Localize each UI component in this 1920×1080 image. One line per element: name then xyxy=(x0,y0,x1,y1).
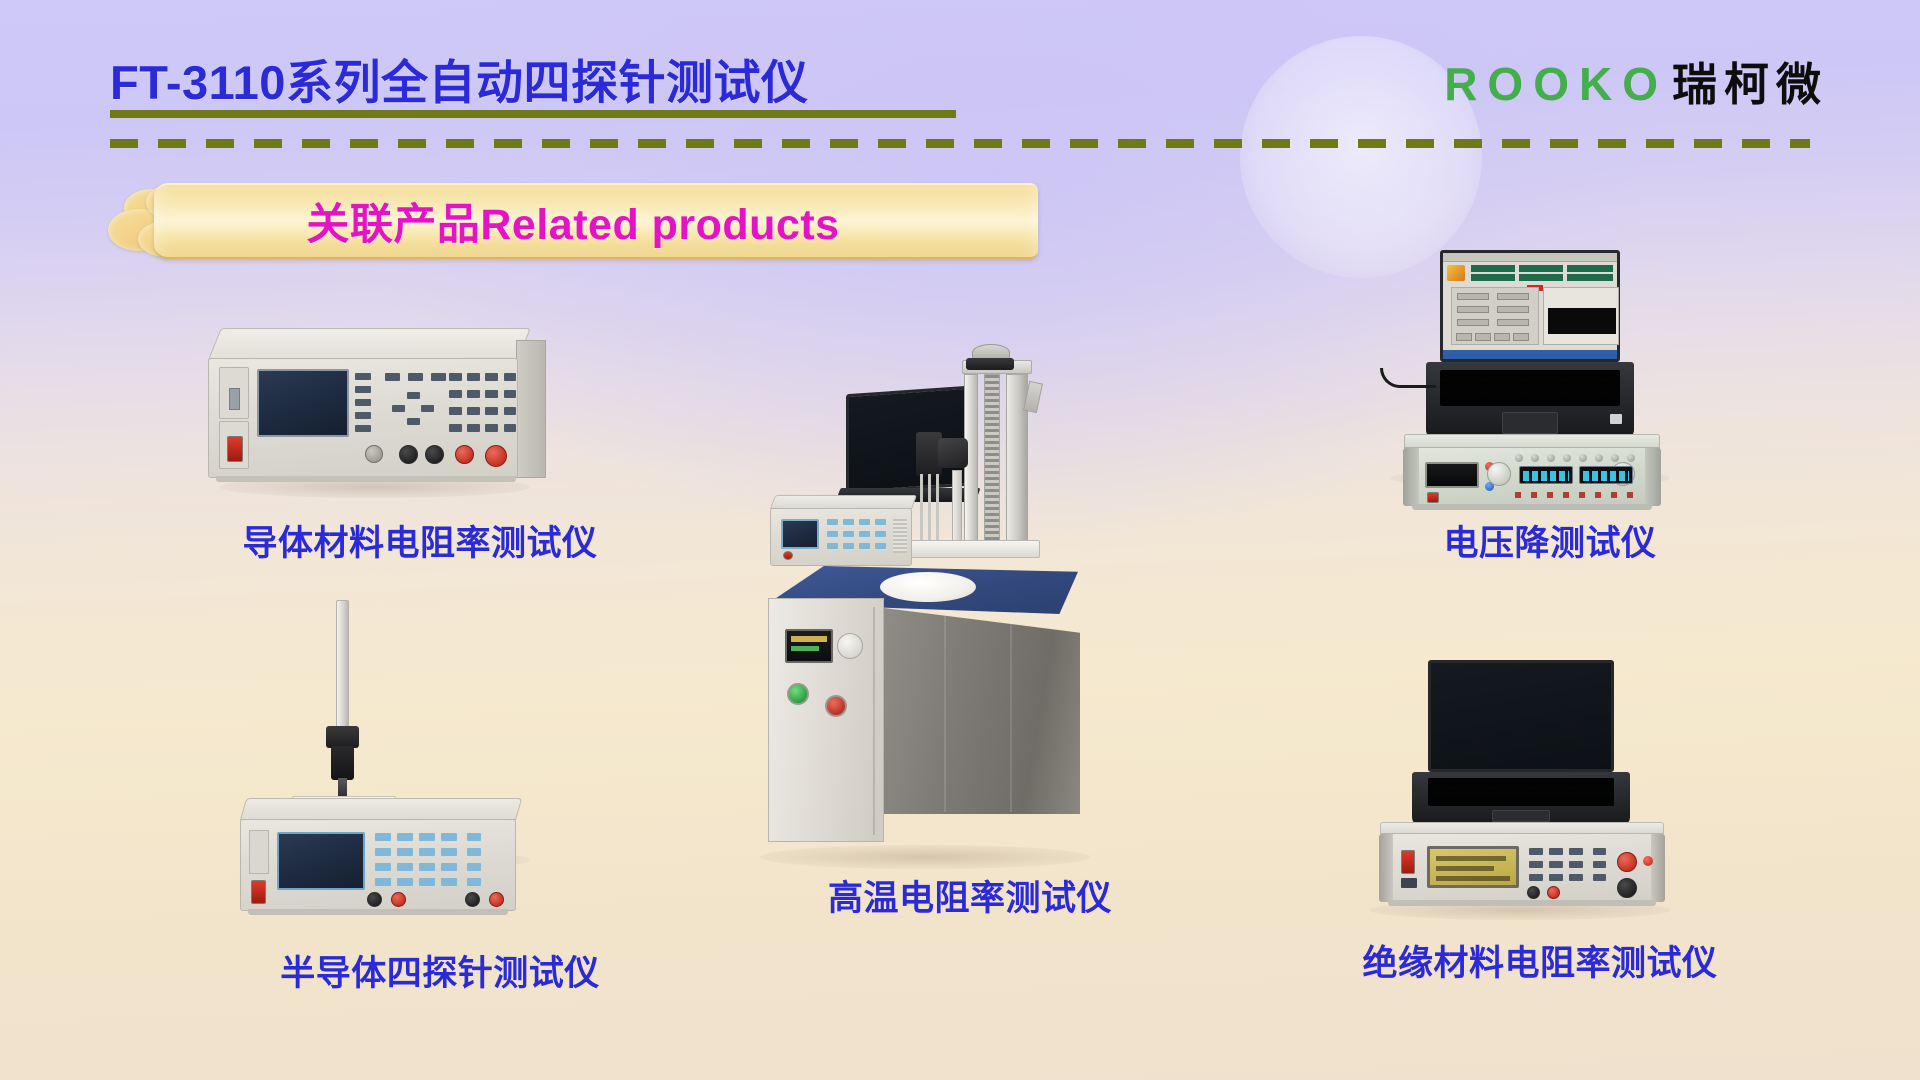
display-screen xyxy=(1427,846,1519,888)
keypad-button[interactable] xyxy=(441,863,457,871)
brand-logo-chinese: 瑞柯微 xyxy=(1672,48,1828,113)
rack-ear-left xyxy=(1403,448,1419,506)
banana-jack-black[interactable] xyxy=(465,892,480,907)
probe-rod xyxy=(936,474,939,542)
instrument-front-panel xyxy=(208,358,518,478)
probe-rod xyxy=(928,474,931,542)
keypad-button[interactable] xyxy=(1569,874,1583,881)
motor-coupler xyxy=(966,358,1014,370)
brand-logo-latin: ROOKO xyxy=(1444,57,1668,111)
banana-jack-black[interactable] xyxy=(399,445,418,464)
keypad-button[interactable] xyxy=(1529,861,1543,868)
panel-seam xyxy=(873,607,875,835)
panel-button[interactable] xyxy=(1579,454,1587,462)
software-field-group xyxy=(1519,274,1563,281)
probe-rod xyxy=(920,474,923,542)
cabinet-side-panel xyxy=(884,608,1080,814)
banana-jack-black[interactable] xyxy=(367,892,382,907)
power-rocker-switch[interactable] xyxy=(1401,850,1415,874)
probe-clamp-block xyxy=(326,726,359,748)
keypad-button[interactable] xyxy=(843,543,854,549)
softkey-button[interactable] xyxy=(355,425,371,432)
keypad-button[interactable] xyxy=(375,833,391,841)
lead-screw xyxy=(984,374,1000,544)
vent-grille xyxy=(893,519,907,553)
banana-jack-red[interactable] xyxy=(455,445,474,464)
product-label-semiconductor-four-probe: 半导体四探针测试仪 xyxy=(230,945,650,996)
keypad-button[interactable] xyxy=(397,878,413,886)
keypad-button[interactable] xyxy=(827,519,838,525)
keypad-button[interactable] xyxy=(449,424,462,432)
product-label-conductor-resistivity: 导体材料电阻率测试仪 xyxy=(190,515,650,566)
product-label-insulation-resistivity: 绝缘材料电阻率测试仪 xyxy=(1280,935,1800,986)
power-cable xyxy=(1380,368,1436,388)
laptop-keyboard[interactable] xyxy=(1428,778,1614,806)
keypad-button[interactable] xyxy=(875,531,886,537)
keypad-button[interactable] xyxy=(375,878,391,886)
keypad-button[interactable] xyxy=(419,863,435,871)
softkey-button[interactable] xyxy=(355,399,371,406)
function-button[interactable] xyxy=(1593,848,1606,855)
keypad-button[interactable] xyxy=(485,390,498,398)
stage-bridge-plate xyxy=(908,540,1040,558)
controller-readout-pv xyxy=(791,636,827,642)
instrument-front-panel xyxy=(1404,447,1660,505)
keypad-button[interactable] xyxy=(419,878,435,886)
banana-jack-red[interactable] xyxy=(489,892,504,907)
product-card-high-temperature-resistivity[interactable]: 高温电阻率测试仪 xyxy=(760,340,1180,900)
keypad-button[interactable] xyxy=(485,407,498,415)
keypad-button[interactable] xyxy=(875,543,886,549)
probe-shaft xyxy=(338,778,347,798)
keypad-button[interactable] xyxy=(419,848,435,856)
printer-slot xyxy=(1425,462,1479,488)
software-field-group xyxy=(1567,274,1613,281)
laptop-trackpad[interactable] xyxy=(1502,412,1558,434)
test-button[interactable] xyxy=(504,373,516,381)
temperature-controller-display xyxy=(785,629,833,663)
instrument-top-panel xyxy=(1404,434,1660,448)
fuse-holder xyxy=(1401,878,1417,888)
start-button-green[interactable] xyxy=(787,683,809,705)
keypad-button[interactable] xyxy=(485,373,498,381)
rack-ear-right xyxy=(1651,834,1665,902)
keypad-button[interactable] xyxy=(397,833,413,841)
keypad-button[interactable] xyxy=(485,424,498,432)
bnc-knob-left[interactable] xyxy=(1487,462,1511,486)
power-rocker-switch[interactable] xyxy=(251,880,266,904)
softkey-button[interactable] xyxy=(355,412,371,419)
keypad-button[interactable] xyxy=(397,863,413,871)
product-card-semiconductor-four-probe[interactable]: 半导体四探针测试仪 xyxy=(230,600,650,1000)
keypad-button[interactable] xyxy=(397,848,413,856)
software-taskbar xyxy=(1443,350,1617,359)
product-shadow xyxy=(760,845,1090,869)
function-button[interactable] xyxy=(1593,861,1606,868)
product-card-conductor-resistivity[interactable]: 导体材料电阻率测试仪 xyxy=(190,300,650,570)
hv-terminal-red[interactable] xyxy=(1617,852,1637,872)
function-button[interactable] xyxy=(1593,874,1606,881)
probe-camera-housing xyxy=(938,438,968,468)
software-logo-icon xyxy=(1447,265,1465,281)
panel-button[interactable] xyxy=(1627,454,1635,462)
software-field-group xyxy=(1567,265,1613,272)
product-label-voltage-drop-tester: 电压降测试仪 xyxy=(1310,515,1790,566)
keypad-button[interactable] xyxy=(441,878,457,886)
function-button[interactable] xyxy=(408,373,423,381)
software-chart-area xyxy=(1543,287,1619,345)
software-button-panel xyxy=(1451,287,1539,345)
instrument-top-panel xyxy=(208,328,531,360)
keypad-button[interactable] xyxy=(449,373,462,381)
keypad-button[interactable] xyxy=(843,531,854,537)
power-rocker-switch[interactable] xyxy=(227,436,243,462)
enter-button[interactable] xyxy=(504,424,516,432)
keypad-button[interactable] xyxy=(827,531,838,537)
software-field-group xyxy=(1519,265,1563,272)
header-dashed-divider xyxy=(110,139,1810,148)
software-menubar xyxy=(1443,253,1617,262)
instrument-base-rail xyxy=(1388,900,1656,906)
stop-button-red[interactable] xyxy=(825,695,847,717)
keypad-button[interactable] xyxy=(859,531,870,537)
laptop-screen xyxy=(1428,660,1614,772)
rotary-sample-table xyxy=(880,572,976,602)
function-button[interactable] xyxy=(467,863,481,871)
display-screen xyxy=(277,832,365,890)
power-switch-plate xyxy=(219,421,249,469)
banana-jack-black[interactable] xyxy=(425,445,444,464)
panel-button[interactable] xyxy=(1563,454,1571,462)
laptop-sticker xyxy=(1610,414,1622,424)
keypad-button[interactable] xyxy=(1569,861,1583,868)
software-field-group xyxy=(1471,274,1515,281)
function-button[interactable] xyxy=(385,373,400,381)
led-display-current xyxy=(1579,466,1633,484)
softkey-button[interactable] xyxy=(355,386,371,393)
page-title: FT-3110系列全自动四探针测试仪 xyxy=(110,44,808,113)
keypad-button[interactable] xyxy=(827,543,838,549)
panel-seam xyxy=(944,616,946,812)
banana-jack-red[interactable] xyxy=(1547,886,1560,899)
panel-button[interactable] xyxy=(1611,454,1619,462)
keypad-button[interactable] xyxy=(1529,848,1543,855)
keypad-button[interactable] xyxy=(1549,848,1563,855)
power-indicator xyxy=(783,551,793,560)
keypad-button[interactable] xyxy=(375,863,391,871)
function-button[interactable] xyxy=(467,878,481,886)
analog-meter xyxy=(837,633,863,659)
instrument-front-panel xyxy=(1380,833,1664,901)
keypad-button[interactable] xyxy=(467,424,480,432)
product-card-voltage-drop-tester[interactable]: 电压降测试仪 xyxy=(1380,250,1720,550)
keypad-button[interactable] xyxy=(859,519,870,525)
banana-jack-red[interactable] xyxy=(485,445,507,467)
title-underline-rule xyxy=(110,110,956,118)
keypad-button[interactable] xyxy=(467,373,480,381)
keypad-button[interactable] xyxy=(441,833,457,841)
product-label-high-temperature-resistivity: 高温电阻率测试仪 xyxy=(690,870,1250,921)
hv-warning-led xyxy=(1643,856,1653,866)
instrument-base-rail xyxy=(248,909,508,915)
panel-legend-marks xyxy=(1515,492,1643,498)
software-window xyxy=(1443,253,1617,359)
cabinet-front-panel xyxy=(768,598,884,842)
keypad-button[interactable] xyxy=(1549,861,1563,868)
led-display-voltage xyxy=(1519,466,1573,484)
instrument-front-panel xyxy=(240,819,516,911)
bnc-connector[interactable] xyxy=(365,445,383,463)
function-button[interactable] xyxy=(467,833,481,841)
display-screen xyxy=(257,369,349,437)
related-products-banner: 关联产品Related products xyxy=(108,183,1038,259)
controller-readout-sv xyxy=(791,646,819,651)
instrument-front-panel xyxy=(770,508,912,566)
menu-button[interactable] xyxy=(504,390,516,398)
laptop-screen xyxy=(1440,250,1620,362)
keypad-button[interactable] xyxy=(1569,848,1583,855)
keypad-button[interactable] xyxy=(859,543,870,549)
laptop-trackpad[interactable] xyxy=(1492,810,1550,822)
shift-button[interactable] xyxy=(504,407,516,415)
instrument-top-panel xyxy=(240,798,522,820)
keypad-button[interactable] xyxy=(1549,874,1563,881)
keypad-button[interactable] xyxy=(467,390,480,398)
keypad-button[interactable] xyxy=(449,390,462,398)
hv-terminal-black[interactable] xyxy=(1617,878,1637,898)
rack-ear-left xyxy=(1379,834,1393,902)
arrow-left-button[interactable] xyxy=(392,405,405,412)
software-data-readout xyxy=(1548,308,1616,334)
function-button[interactable] xyxy=(467,848,481,856)
arrow-down-button[interactable] xyxy=(407,418,420,425)
panel-button[interactable] xyxy=(1515,454,1523,462)
power-rocker-switch[interactable] xyxy=(1427,492,1439,503)
panel-button[interactable] xyxy=(1547,454,1555,462)
function-button[interactable] xyxy=(431,373,446,381)
panel-button[interactable] xyxy=(1531,454,1539,462)
panel-button[interactable] xyxy=(1595,454,1603,462)
usb-port xyxy=(229,388,240,410)
banner-heading: 关联产品Related products xyxy=(108,183,1038,259)
brand-logo: ROOKO 瑞柯微 xyxy=(1444,48,1828,113)
probe-column-post xyxy=(336,600,349,730)
keypad-button[interactable] xyxy=(1529,874,1543,881)
instrument-side-panel xyxy=(516,340,546,478)
keypad-button[interactable] xyxy=(449,407,462,415)
keypad-button[interactable] xyxy=(375,848,391,856)
keypad-button[interactable] xyxy=(875,519,886,525)
keypad-button[interactable] xyxy=(419,833,435,841)
rack-ear-right xyxy=(1645,448,1661,506)
display-screen xyxy=(781,519,819,549)
arrow-up-button[interactable] xyxy=(407,392,420,399)
banana-jack-black[interactable] xyxy=(1527,886,1540,899)
product-card-insulation-resistivity[interactable]: 绝缘材料电阻率测试仪 xyxy=(1370,660,1700,980)
keypad-button[interactable] xyxy=(843,519,854,525)
software-field-group xyxy=(1471,265,1515,272)
instrument-top-panel xyxy=(770,495,917,509)
banana-jack-red[interactable] xyxy=(391,892,406,907)
slide-header: FT-3110系列全自动四探针测试仪 ROOKO 瑞柯微 xyxy=(0,0,1920,168)
laptop-keyboard[interactable] xyxy=(1440,370,1620,406)
instrument-base-rail xyxy=(216,476,516,482)
probe-guide-post xyxy=(952,470,962,542)
keypad-button[interactable] xyxy=(441,848,457,856)
softkey-button[interactable] xyxy=(355,373,371,380)
instrument-base-rail xyxy=(1412,504,1652,510)
arrow-right-button[interactable] xyxy=(421,405,434,412)
keypad-button[interactable] xyxy=(467,407,480,415)
panel-seam xyxy=(1010,624,1012,812)
usb-port-plate xyxy=(219,367,249,419)
laptop-base xyxy=(1426,362,1634,438)
probe-head-housing xyxy=(331,746,354,780)
side-port-plate xyxy=(249,830,269,874)
laptop-base xyxy=(1412,772,1630,826)
